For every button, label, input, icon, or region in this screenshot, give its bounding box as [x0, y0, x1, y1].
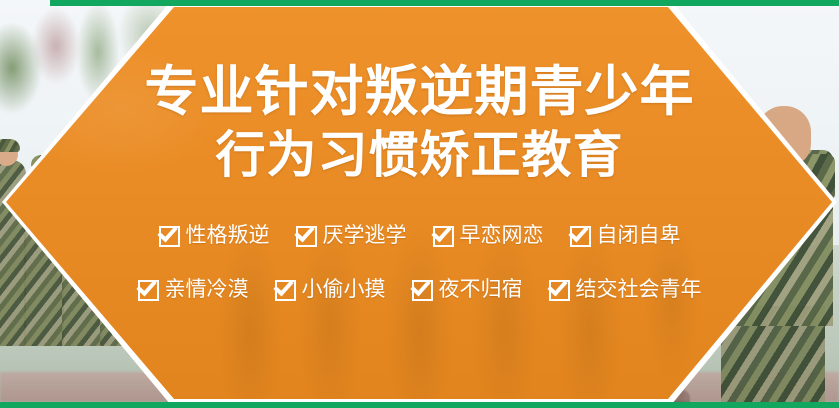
checkbox-checked-icon — [412, 280, 433, 301]
headline-line-1: 专业针对叛逆期青少年 — [145, 62, 695, 122]
checkbox-checked-icon — [296, 226, 317, 247]
checkbox-checked-icon — [549, 280, 570, 301]
feature-item: 厌学逃学 — [296, 224, 407, 248]
feature-label: 性格叛逆 — [186, 224, 270, 248]
checkbox-checked-icon — [433, 226, 454, 247]
feature-list: 性格叛逆 厌学逃学 早恋网恋 自闭自卑 亲情冷漠 — [0, 224, 839, 302]
feature-item: 早恋网恋 — [433, 224, 544, 248]
headline-line-2: 行为习惯矫正教育 — [145, 126, 695, 184]
feature-label: 结交社会青年 — [576, 278, 702, 302]
checkbox-checked-icon — [159, 226, 180, 247]
feature-label: 厌学逃学 — [323, 224, 407, 248]
checkbox-checked-icon — [138, 280, 159, 301]
feature-label: 早恋网恋 — [460, 224, 544, 248]
checkbox-checked-icon — [570, 226, 591, 247]
feature-item: 性格叛逆 — [159, 224, 270, 248]
feature-row-1: 性格叛逆 厌学逃学 早恋网恋 自闭自卑 — [159, 224, 681, 248]
banner-content: 专业针对叛逆期青少年 行为习惯矫正教育 性格叛逆 厌学逃学 早恋网恋 — [0, 0, 839, 408]
feature-label: 小偷小摸 — [302, 278, 386, 302]
feature-item: 夜不归宿 — [412, 278, 523, 302]
feature-item: 亲情冷漠 — [138, 278, 249, 302]
feature-item: 结交社会青年 — [549, 278, 702, 302]
promo-banner: 专业针对叛逆期青少年 行为习惯矫正教育 性格叛逆 厌学逃学 早恋网恋 — [0, 0, 839, 408]
feature-label: 自闭自卑 — [597, 224, 681, 248]
headline: 专业针对叛逆期青少年 行为习惯矫正教育 — [145, 62, 695, 184]
feature-row-2: 亲情冷漠 小偷小摸 夜不归宿 结交社会青年 — [138, 278, 702, 302]
feature-label: 夜不归宿 — [439, 278, 523, 302]
feature-label: 亲情冷漠 — [165, 278, 249, 302]
feature-item: 小偷小摸 — [275, 278, 386, 302]
feature-item: 自闭自卑 — [570, 224, 681, 248]
checkbox-checked-icon — [275, 280, 296, 301]
